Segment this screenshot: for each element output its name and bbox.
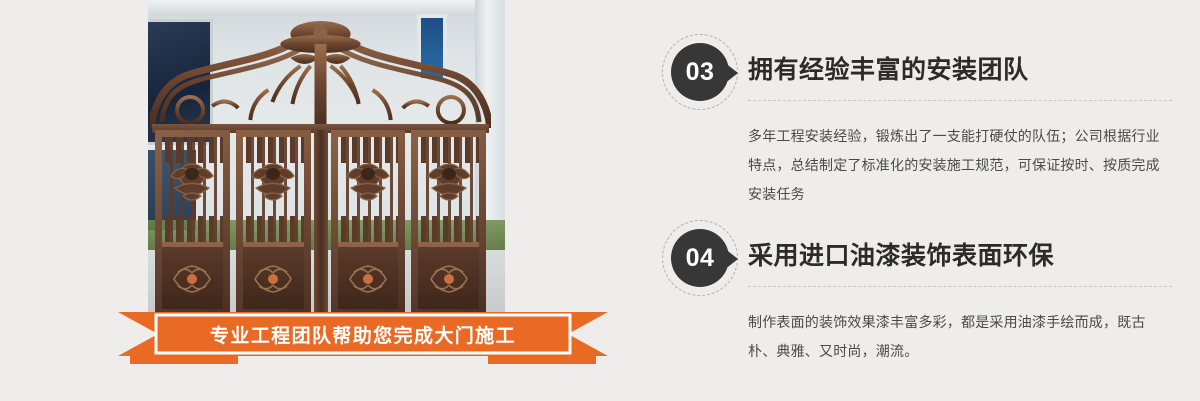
feature-divider (748, 100, 1172, 101)
gate-center-post (314, 130, 328, 316)
gate-panel-base (162, 242, 223, 309)
feature-body: 多年工程安装经验，锻炼出了一支能打硬仗的队伍；公司根据行业特点，总结制定了标准化… (748, 122, 1172, 209)
gate-panel (155, 130, 230, 316)
ribbon-banner: 专业工程团队帮助您完成大门施工 (118, 312, 608, 364)
feature-body: 制作表面的装饰效果漆丰富多彩，都是采用油漆手绘而成，既古朴、典雅、又时尚，潮流。 (748, 308, 1172, 366)
gate-baluster-row-bottom (243, 216, 304, 242)
gate-panel-grille (162, 137, 223, 242)
feature-list: 03 拥有经验丰富的安装团队 多年工程安装经验，锻炼出了一支能打硬仗的队伍；公司… (662, 0, 1182, 401)
gate-panel-grille (418, 137, 479, 242)
badge-pointer-icon (724, 248, 738, 270)
feature-title: 采用进口油漆装饰表面环保 (748, 236, 1054, 272)
building-cornice (148, 0, 505, 14)
gate-panel (331, 130, 406, 316)
gate-medallion-icon (163, 158, 221, 204)
badge-number: 03 (686, 60, 715, 85)
gate-panel-base (418, 242, 479, 309)
gate-panel (236, 130, 311, 316)
gate-structure (152, 96, 489, 316)
gate-photo-block (148, 0, 505, 316)
feature-number-badge: 03 (662, 34, 742, 114)
gate-rosette-icon (247, 262, 299, 296)
gate-medallion-icon (339, 158, 397, 204)
gate-panel-grille (243, 137, 304, 242)
gate-panels (152, 130, 489, 316)
gate-rosette-icon (423, 262, 475, 296)
gate-panel-grille (338, 137, 399, 242)
feature-number-badge: 04 (662, 220, 742, 300)
gate-baluster-row-bottom (338, 216, 399, 242)
gate-baluster-row-bottom (162, 216, 223, 242)
badge-disc: 03 (671, 43, 729, 101)
gate-rosette-icon (166, 262, 218, 296)
feature-divider (748, 286, 1172, 287)
gate-rosette-icon (342, 262, 394, 296)
ornate-bronze-gate-photo (148, 0, 505, 316)
gate-panel-base (243, 242, 304, 309)
badge-number: 04 (686, 246, 715, 271)
badge-pointer-icon (724, 62, 738, 84)
feature-title: 拥有经验丰富的安装团队 (748, 50, 1029, 86)
gate-arch-ornament (150, 18, 491, 128)
gate-medallion-icon (244, 158, 302, 204)
badge-disc: 04 (671, 229, 729, 287)
promo-banner: 专业工程团队帮助您完成大门施工 03 拥有经验丰富的安装团队 多年工程安装经验，… (0, 0, 1200, 401)
gate-baluster-row-bottom (418, 216, 479, 242)
gate-panel (411, 130, 486, 316)
gate-panel-base (338, 242, 399, 309)
gate-medallion-icon (420, 158, 478, 204)
